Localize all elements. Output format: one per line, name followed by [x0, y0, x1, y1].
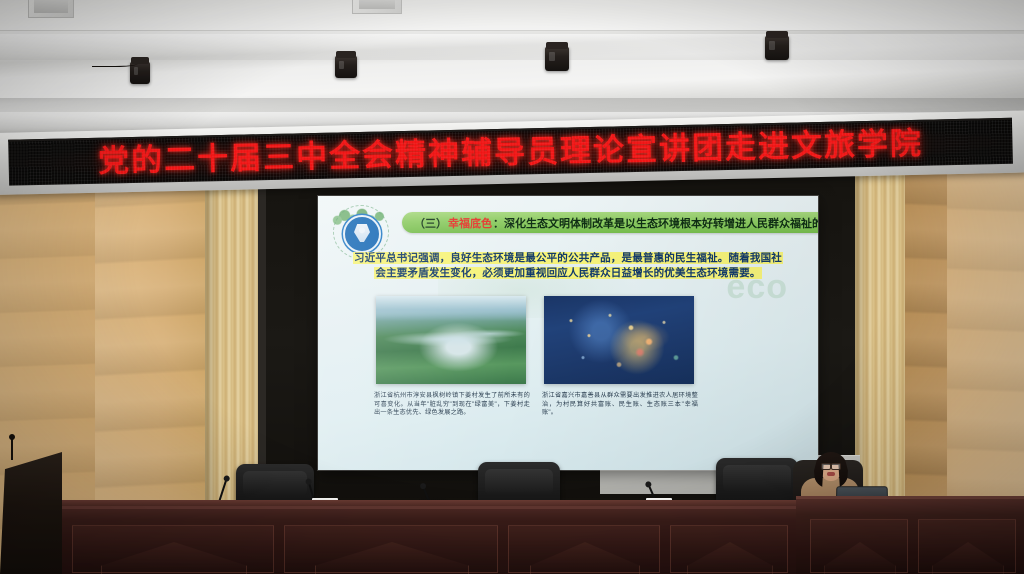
desk-cable [92, 60, 138, 67]
slide-title-separator: ： [493, 215, 504, 231]
slide-title-number: （三） [414, 215, 447, 231]
lectern-microphone [11, 438, 13, 460]
ceiling-vent [28, 0, 74, 18]
photo-village-image [376, 296, 526, 384]
slide-body-text: 习近平总书记强调，良好生态环境是最公平的公共产品，是最普惠的民生福祉。随着我国社… [353, 252, 783, 279]
photo-caption-left: 浙江省杭州市淳安县枫树岭镇下姜村发生了前所未有的可喜变化。从当年"脏乱穷"到现在… [374, 392, 530, 418]
lecture-hall-photo: 党的二十届三中全会精神辅导员理论宣讲团走进文旅学院 eco （三） 幸福底色 ：… [0, 0, 1024, 574]
ceiling-vent [352, 0, 402, 14]
podium-panel [284, 525, 498, 573]
podium-front [62, 506, 796, 574]
podium-panel [72, 525, 274, 573]
podium-panel [508, 525, 660, 573]
lectern [0, 452, 62, 574]
photo-city-image [544, 296, 694, 384]
photo-caption-right: 浙江省嘉兴市嘉善县从群众需要出发推进农人居环境整治，为村民算好共富账、民生账、生… [542, 392, 698, 418]
presenter-mouth [827, 472, 835, 476]
podium-panel [810, 519, 908, 573]
slide-title-highlight: 幸福底色 [448, 215, 492, 231]
slide-title-banner: （三） 幸福底色 ： 深化生态文明体制改革是以生态环境根本好转增进人民群众福祉的… [402, 212, 818, 233]
ceiling-band [0, 34, 1024, 60]
ceiling-soffit [0, 0, 1024, 31]
slide-title-rest: 深化生态文明体制改革是以生态环境根本好转增进人民群众福祉的重要保障 [504, 215, 818, 231]
slide-body-text-block: 习近平总书记强调，良好生态环境是最公平的公共产品，是最普惠的民生福祉。随着我国社… [352, 251, 784, 281]
glasses-icon [821, 463, 841, 468]
ceiling-spotlight [335, 56, 357, 78]
podium-right-section [796, 496, 1024, 574]
photo-city-night [544, 296, 694, 384]
ceiling-spotlight [545, 47, 569, 71]
projection-screen: eco （三） 幸福底色 ： 深化生态文明体制改革是以生态环境根本好转增进人民群… [318, 196, 818, 470]
ceiling-spotlight [765, 36, 789, 60]
podium-panel [918, 519, 1016, 573]
photo-village-aerial [376, 296, 526, 384]
podium-panel [670, 525, 788, 573]
emblem-ring [343, 215, 381, 253]
